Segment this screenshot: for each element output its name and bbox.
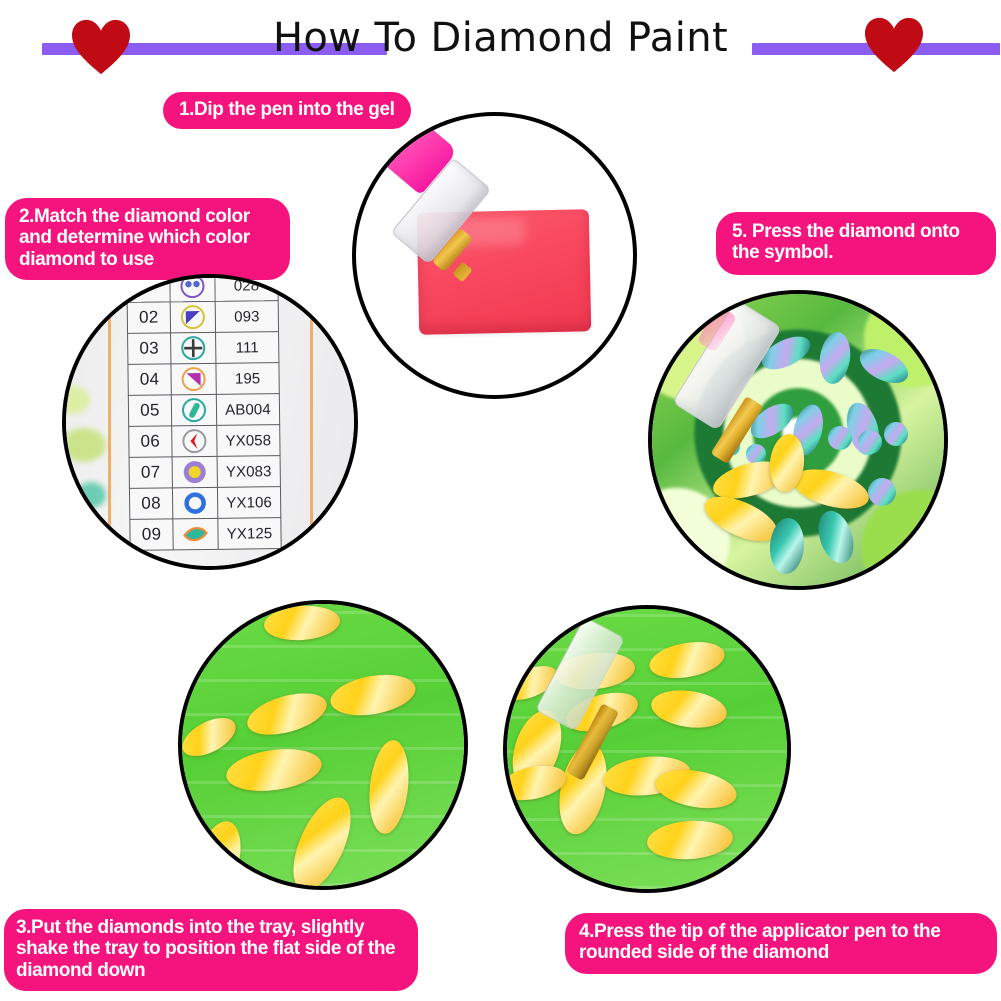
legend-symbol-triangle-down-right-icon: [171, 363, 216, 395]
legend-symbol-plus-cross-icon: [171, 332, 216, 364]
step-2-label: 2.Match the diamond color and determine …: [5, 198, 290, 280]
legend-symbol-open-ring-icon: [172, 487, 217, 519]
placed-diamond: [858, 430, 882, 454]
diamonds-in-tray-photo: [178, 600, 468, 890]
legend-row-code: 195: [216, 363, 279, 395]
legend-row: 06YX058: [129, 425, 280, 458]
pressing-diamond-onto-symbol-photo: [648, 290, 948, 590]
pen-dipping-into-gel-photo: [352, 112, 637, 399]
legend-symbol-diagonal-capsule-icon: [171, 394, 216, 426]
placed-diamond: [828, 426, 852, 450]
applicator-pen: [386, 124, 504, 294]
legend-symbol-triangle-down-left-icon: [170, 301, 215, 333]
legend-row-number: 06: [129, 426, 172, 458]
chart-margin-line: [108, 278, 111, 566]
applicator-pen: [535, 621, 675, 811]
legend-row: 028: [127, 278, 278, 302]
legend-row-code: 111: [216, 332, 279, 364]
legend-row-number: 09: [130, 519, 173, 551]
pen-tip: [452, 262, 472, 283]
legend-row: 02093: [127, 301, 278, 334]
legend-row-code: YX125: [218, 518, 281, 550]
legend-symbol-leaf-eye-icon: [173, 518, 218, 550]
step-1-label: 1.Dip the pen into the gel: [163, 92, 411, 129]
legend-row: 08YX106: [129, 487, 280, 520]
legend-row-number: [127, 278, 170, 302]
legend-row: 04195: [128, 363, 279, 396]
chart-margin-line: [310, 278, 313, 566]
pen-tip-on-diamond-photo: [503, 605, 791, 893]
legend-symbol-double-dot-circle-icon: [170, 278, 215, 302]
page-title: How To Diamond Paint: [0, 14, 1001, 62]
legend-row-code: YX058: [217, 425, 280, 457]
legend-row-code: AB004: [216, 394, 279, 426]
legend-symbol-left-chevron-icon: [172, 425, 217, 457]
legend-row-number: 08: [129, 488, 172, 520]
applicator-pen: [670, 304, 820, 514]
legend-row-code: YX106: [217, 487, 280, 519]
legend-row-code: 093: [215, 301, 278, 333]
color-chart-legend-photo: 02802093031110419505AB00406YX05807YX0830…: [62, 274, 358, 570]
placed-diamond: [884, 422, 908, 446]
legend-row: 07YX083: [129, 456, 280, 489]
legend-row-number: 04: [128, 364, 171, 396]
printed-color-blob: [76, 482, 106, 508]
legend-row-number: 02: [127, 302, 170, 334]
legend-row: 09YX125: [130, 518, 281, 551]
legend-row: 05AB004: [128, 394, 279, 427]
step-4-label: 4.Press the tip of the applicator pen to…: [565, 913, 997, 974]
legend-row-number: 05: [128, 395, 171, 427]
legend-row: 03111: [128, 332, 279, 365]
legend-row-code: 028: [215, 278, 278, 301]
infographic-canvas: How To Diamond Paint 1.Dip the pen into …: [0, 0, 1001, 1001]
step-3-label: 3.Put the diamonds into the tray, slight…: [4, 909, 418, 991]
legend-row-number: 07: [129, 457, 172, 489]
legend-symbol-filled-dot-ring-icon: [172, 456, 217, 488]
color-legend-table: 02802093031110419505AB00406YX05807YX0830…: [126, 278, 281, 551]
step-5-label: 5. Press the diamond onto the symbol.: [716, 212, 996, 275]
legend-row-code: YX083: [217, 456, 280, 488]
legend-row-number: 03: [128, 333, 171, 365]
placed-diamond: [868, 478, 896, 506]
